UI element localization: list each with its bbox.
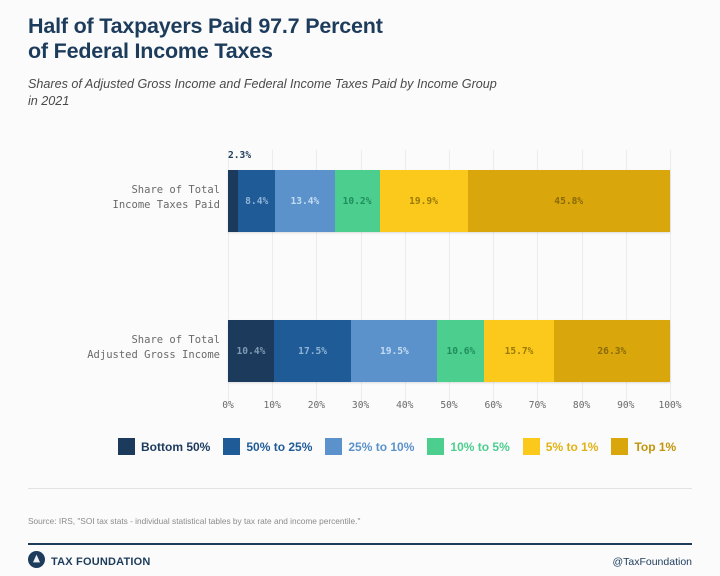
legend-item[interactable]: Top 1% <box>611 438 676 455</box>
x-axis-tick: 90% <box>617 400 634 411</box>
x-axis: 0%10%20%30%40%50%60%70%80%90%100% <box>228 400 670 416</box>
bar-segment: 26.3% <box>554 320 670 382</box>
legend-label: 25% to 10% <box>348 440 414 454</box>
bar-segment: 17.5% <box>274 320 351 382</box>
tax-foundation-logo-icon <box>28 551 45 573</box>
legend-swatch <box>523 438 540 455</box>
legend-item[interactable]: 10% to 5% <box>427 438 509 455</box>
x-axis-tick: 40% <box>396 400 413 411</box>
legend-swatch <box>118 438 135 455</box>
legend-swatch <box>611 438 628 455</box>
footer-rule <box>28 543 692 545</box>
legend-item[interactable]: 50% to 25% <box>223 438 312 455</box>
chart-page: Half of Taxpayers Paid 97.7 Percent of F… <box>0 0 720 576</box>
x-axis-tick: 10% <box>264 400 281 411</box>
source-note: Source: IRS, "SOI tax stats - individual… <box>28 516 692 526</box>
legend-swatch <box>325 438 342 455</box>
bar-segment: 10.6% <box>437 320 484 382</box>
legend-swatch <box>223 438 240 455</box>
chart-header: Half of Taxpayers Paid 97.7 Percent of F… <box>28 14 692 110</box>
page-title: Half of Taxpayers Paid 97.7 Percent of F… <box>28 14 692 64</box>
legend-item[interactable]: 25% to 10% <box>325 438 414 455</box>
gridline <box>670 150 671 406</box>
legend-label: Bottom 50% <box>141 440 210 454</box>
legend-label: Top 1% <box>634 440 676 454</box>
bar-segment: 19.9% <box>380 170 468 232</box>
x-axis-tick: 100% <box>658 400 681 411</box>
category-label-adjusted-gross-income: Share of Total Adjusted Gross Income <box>34 333 220 363</box>
stacked-bar: 10.4%17.5%19.5%10.6%15.7%26.3% <box>228 320 670 382</box>
bar-segment: 45.8% <box>468 170 670 232</box>
x-axis-tick: 70% <box>529 400 546 411</box>
x-axis-tick: 20% <box>308 400 325 411</box>
x-axis-tick: 50% <box>440 400 457 411</box>
x-axis-tick: 0% <box>222 400 234 411</box>
legend-label: 10% to 5% <box>450 440 509 454</box>
legend-label: 50% to 25% <box>246 440 312 454</box>
x-axis-tick: 30% <box>352 400 369 411</box>
x-axis-tick: 80% <box>573 400 590 411</box>
brand-name: TAX FOUNDATION <box>51 556 151 568</box>
bar-segment: 8.4% <box>238 170 275 232</box>
bar-segment: 19.5% <box>351 320 437 382</box>
stacked-bar: 8.4%13.4%10.2%19.9%45.8% <box>228 170 670 232</box>
bar-row-adjusted-gross-income: 10.4%17.5%19.5%10.6%15.7%26.3% <box>228 320 670 382</box>
bar-segment: 13.4% <box>275 170 334 232</box>
bar-row-income-taxes-paid: 8.4%13.4%10.2%19.9%45.8% 2.3% <box>228 170 670 232</box>
category-label-income-taxes-paid: Share of Total Income Taxes Paid <box>34 183 220 213</box>
chart-legend: Bottom 50%50% to 25%25% to 10%10% to 5%5… <box>118 438 676 455</box>
brand: TAX FOUNDATION <box>28 551 151 573</box>
legend-swatch <box>427 438 444 455</box>
divider <box>28 488 692 489</box>
bar-segment: 10.2% <box>335 170 380 232</box>
social-handle: @TaxFoundation <box>612 556 692 568</box>
legend-label: 5% to 1% <box>546 440 599 454</box>
bar-segment <box>228 170 238 232</box>
bar-segment-outside-label: 2.3% <box>228 150 251 161</box>
page-subtitle: Shares of Adjusted Gross Income and Fede… <box>28 76 692 110</box>
footer: TAX FOUNDATION @TaxFoundation <box>28 552 692 572</box>
legend-item[interactable]: Bottom 50% <box>118 438 210 455</box>
bar-segment: 10.4% <box>228 320 274 382</box>
bar-segment: 15.7% <box>484 320 553 382</box>
x-axis-tick: 60% <box>485 400 502 411</box>
chart-plot-area: 8.4%13.4%10.2%19.9%45.8% 2.3% 10.4%17.5%… <box>228 168 670 406</box>
legend-item[interactable]: 5% to 1% <box>523 438 599 455</box>
